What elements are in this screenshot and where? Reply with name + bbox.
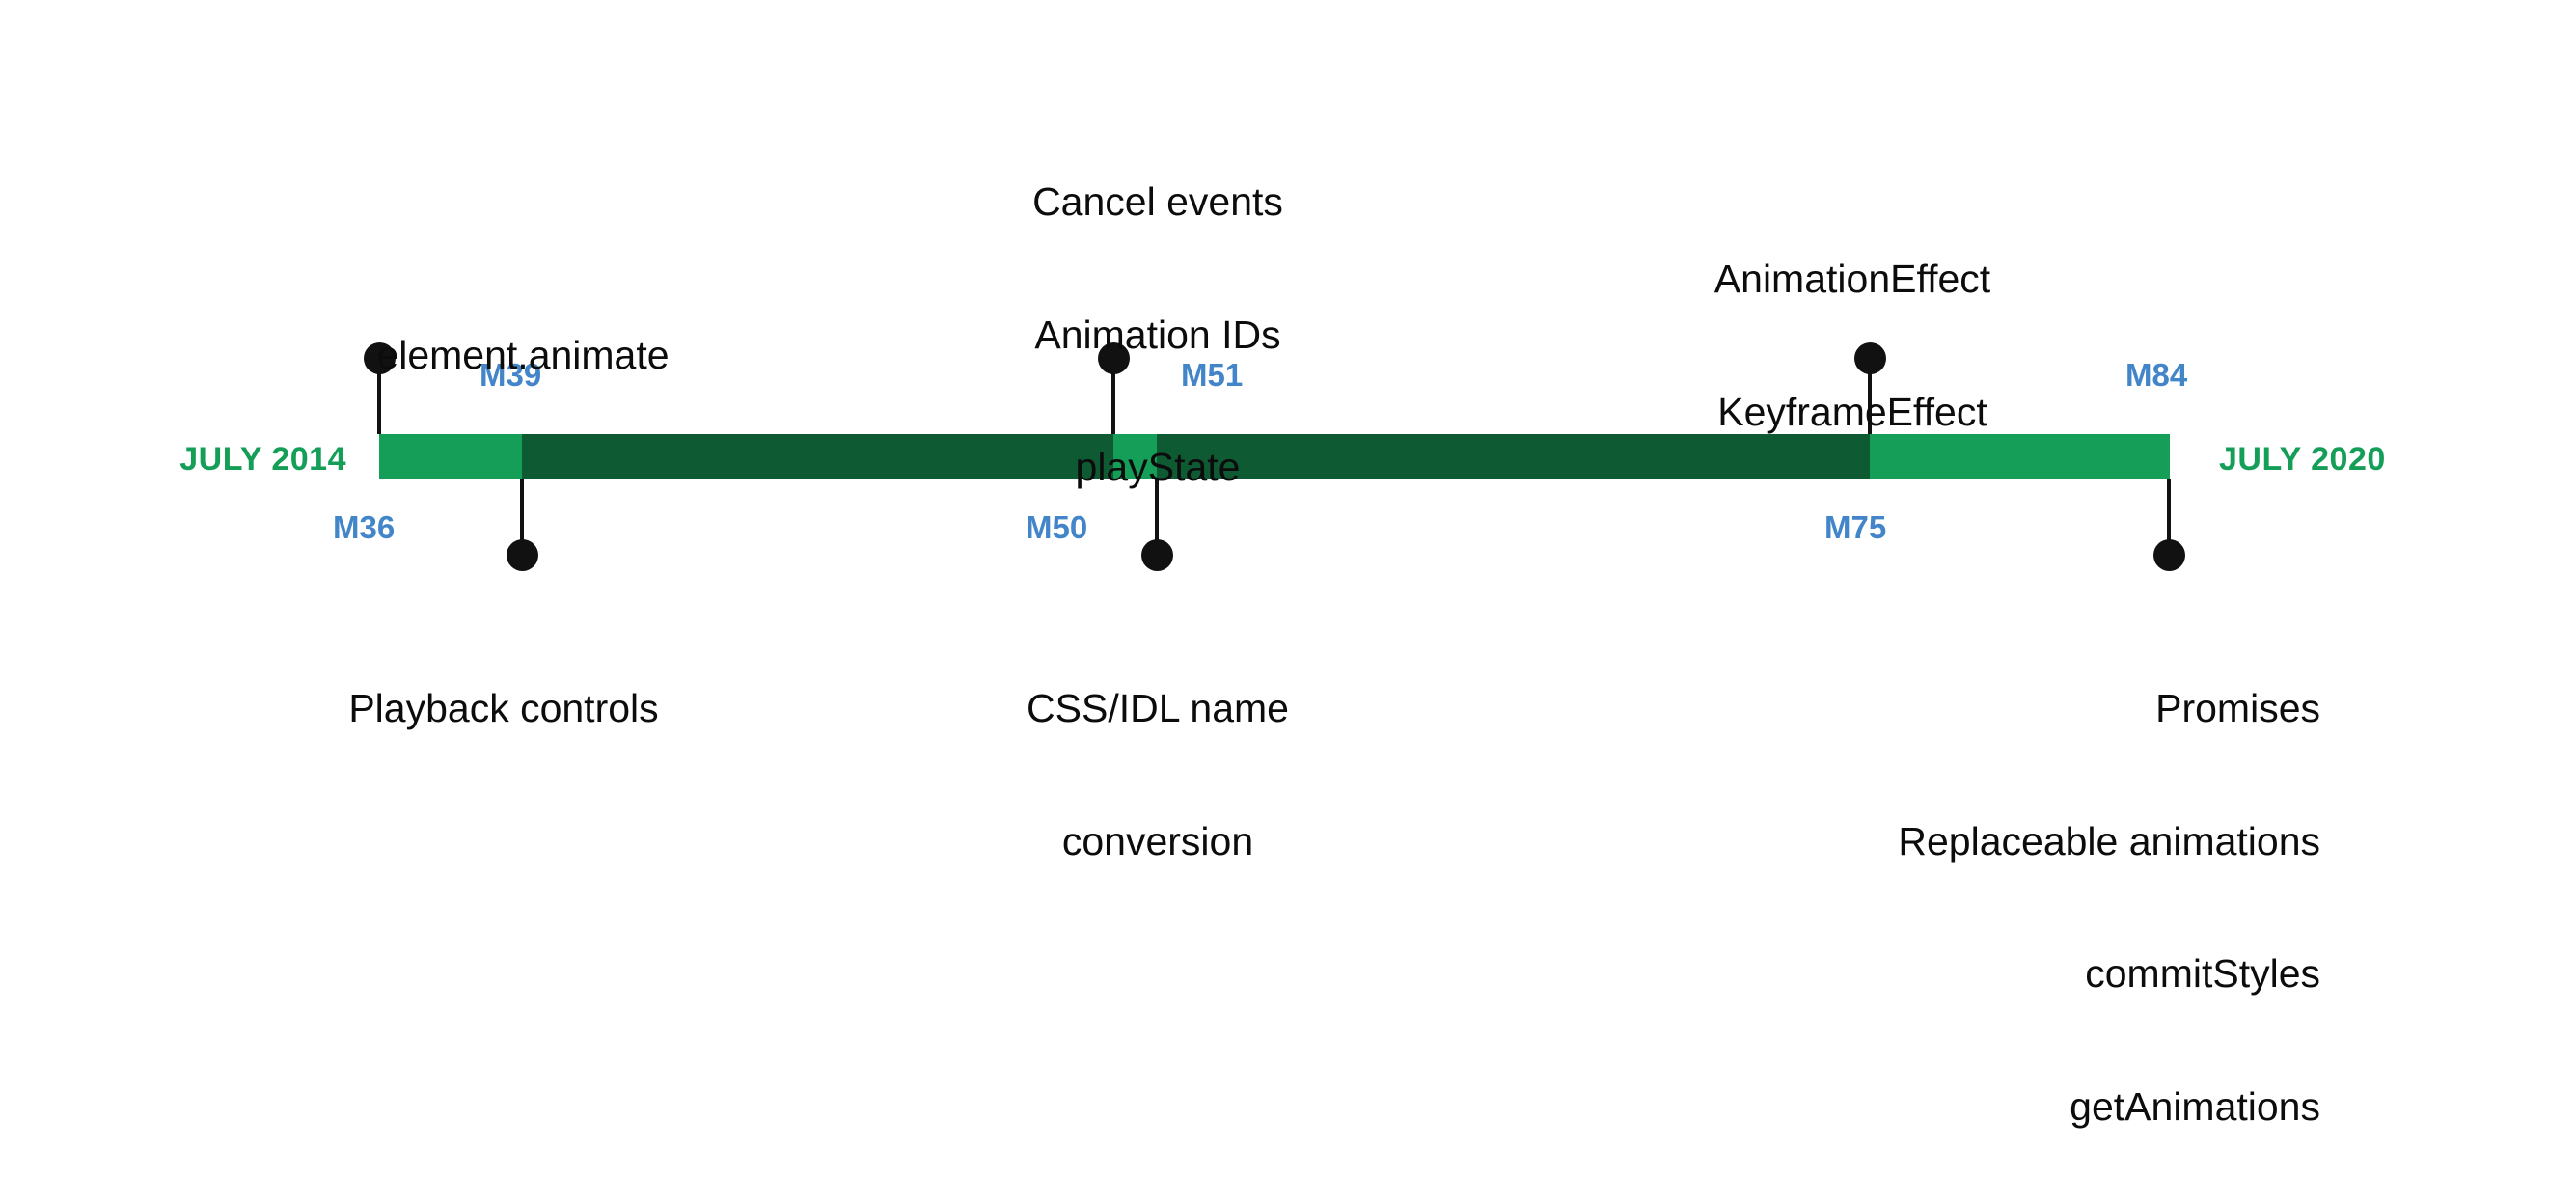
feature-line: getAnimations — [1061, 1085, 2320, 1130]
feature-line: Promises — [1061, 687, 2320, 731]
marker-dot — [2153, 539, 2185, 571]
feature-line: commitStyles — [1061, 952, 2320, 997]
feature-line: AnimationEffect — [1322, 258, 2383, 302]
milestone-chip-m36[interactable]: M36 — [333, 511, 395, 543]
feature-label-m75: AnimationEffect KeyframeEffect — [1322, 169, 2383, 523]
feature-line: KeyframeEffect — [1322, 391, 2383, 435]
feature-label-m84: Promises Replaceable animations commitSt… — [1061, 598, 2320, 1204]
feature-line: Replaceable animations — [1061, 820, 2320, 864]
marker-dot — [507, 539, 538, 571]
timeline-figure: JULY 2014 JULY 2020 M36 M39 M50 M51 M75 … — [0, 0, 2576, 1204]
